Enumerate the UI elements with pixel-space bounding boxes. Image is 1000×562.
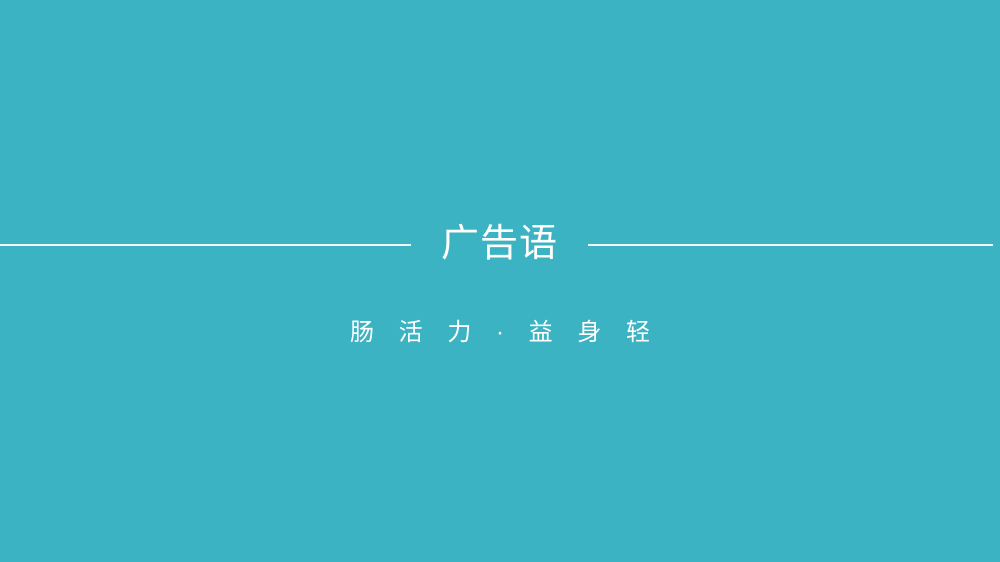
divider-rule-left: [0, 244, 411, 246]
slide-canvas: 广告语 肠 活 力 · 益 身 轻: [0, 0, 1000, 562]
title-band: 广告语: [0, 214, 1000, 276]
divider-rule-right: [588, 244, 993, 246]
slogan-subtitle: 肠 活 力 · 益 身 轻: [0, 318, 1000, 348]
page-title: 广告语: [411, 225, 588, 263]
